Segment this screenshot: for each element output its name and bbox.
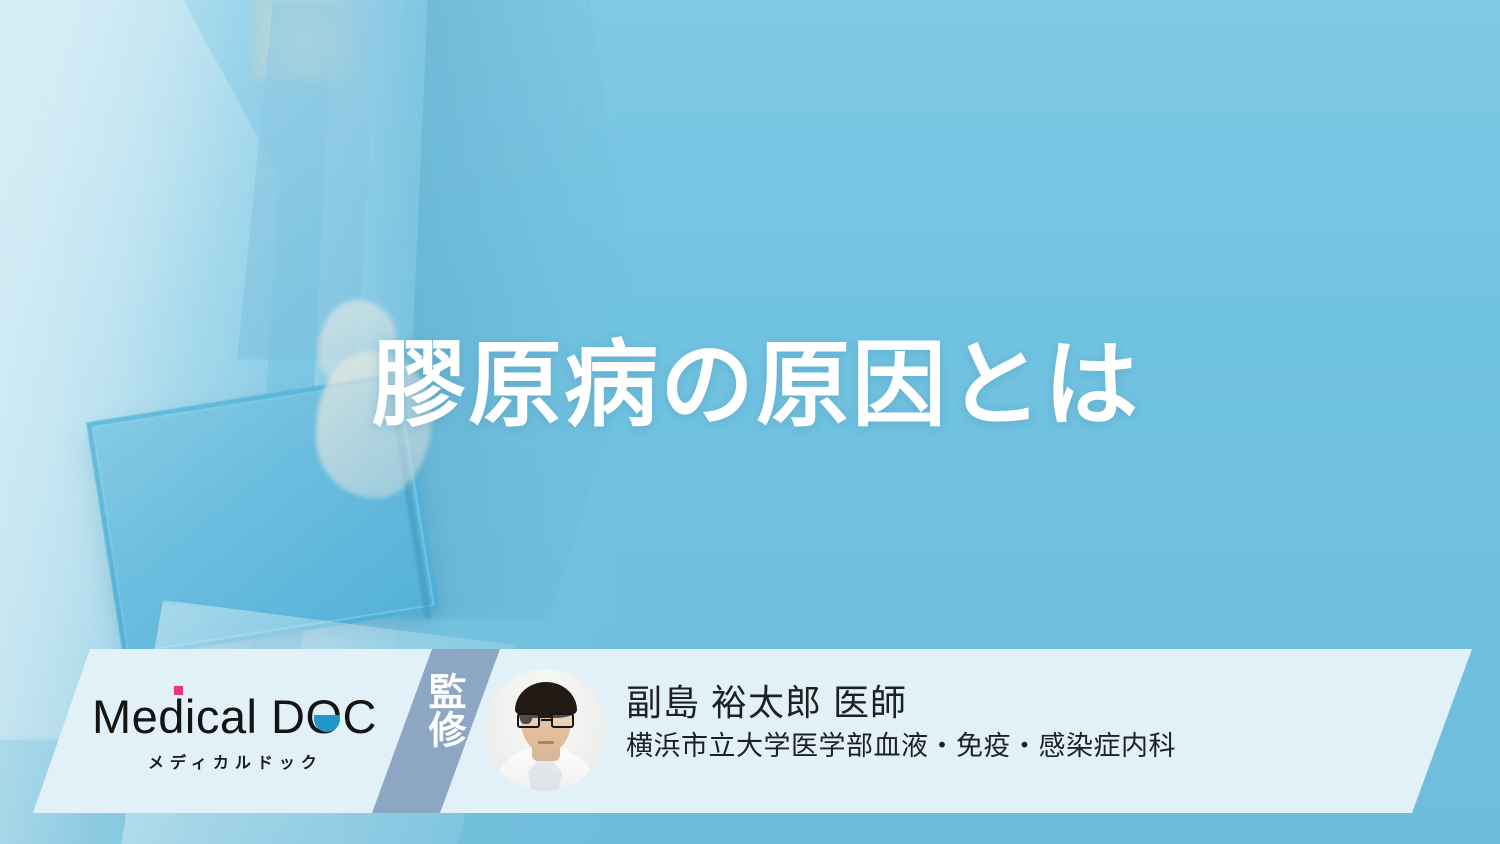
supervisor-name: 副島 裕太郎 医師 (626, 682, 1176, 724)
logo-i-dot-icon (174, 686, 183, 695)
credit-bar-content: Medical DOC メディカルドック 監修 副島 裕太郎 医師 (0, 0, 1500, 844)
glasses-icon (516, 713, 576, 728)
supervision-badge-label: 監修 (408, 672, 464, 784)
logo-kana-subtitle: メディカルドック (92, 749, 382, 773)
supervisor-info: 副島 裕太郎 医師 横浜市立大学医学部血液・免疫・感染症内科 (626, 682, 1176, 763)
supervision-badge: 監修 (372, 649, 500, 813)
supervisor-affiliation: 横浜市立大学医学部血液・免疫・感染症内科 (626, 730, 1176, 762)
glasses-bridge (541, 719, 551, 721)
avatar-mouth (538, 741, 554, 744)
hero-card: 膠原病の原因とは Medical DOC メディカルドック 監修 (0, 0, 1500, 844)
glasses-right-lens (551, 713, 574, 728)
glasses-left-lens (517, 713, 540, 728)
medical-doc-logo[interactable]: Medical DOC メディカルドック (92, 693, 382, 773)
avatar (484, 669, 606, 791)
